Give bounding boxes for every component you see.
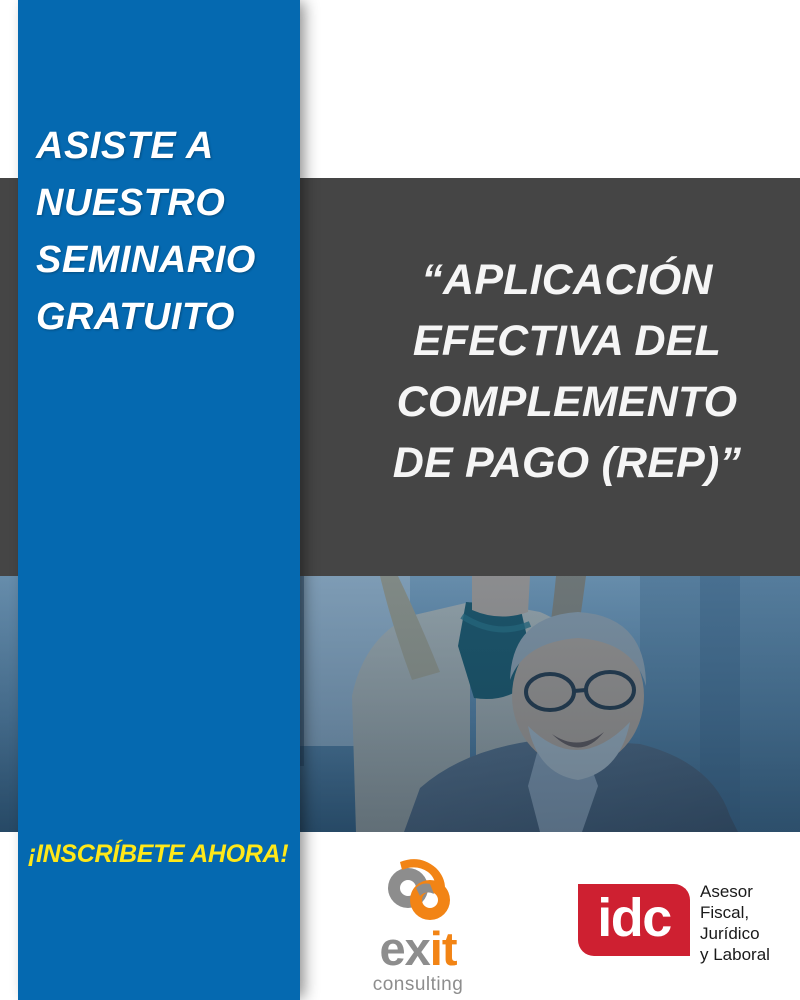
left-headline-line-1: ASISTE A	[36, 118, 288, 175]
interlocking-rings-icon	[364, 858, 472, 930]
seminar-title-line-2: EFECTIVA DEL	[352, 311, 782, 372]
exit-wordmark-it: it	[430, 922, 457, 975]
exit-consulting-logo: exit consulting	[348, 858, 488, 998]
idc-tagline: Asesor Fiscal, Jurídico y Laboral	[700, 881, 770, 965]
left-headline-line-3: SEMINARIO	[36, 232, 288, 289]
idc-logo: idc Asesor Fiscal, Jurídico y Laboral	[578, 884, 788, 970]
idc-tagline-line-2: Fiscal,	[700, 902, 770, 923]
seminar-title-line-4: DE PAGO (REP)”	[352, 433, 782, 494]
idc-tagline-line-3: Jurídico	[700, 923, 770, 944]
exit-wordmark: exit	[348, 924, 488, 974]
seminar-title-line-1: “APLICACIÓN	[352, 250, 782, 311]
left-headline-line-4: GRATUITO	[36, 289, 288, 346]
idc-tagline-line-1: Asesor	[700, 881, 770, 902]
left-headline: ASISTE A NUESTRO SEMINARIO GRATUITO	[36, 118, 288, 346]
seminar-title: “APLICACIÓN EFECTIVA DEL COMPLEMENTO DE …	[352, 250, 782, 494]
register-now-cta[interactable]: ¡INSCRÍBETE AHORA!	[28, 840, 288, 869]
exit-logo-subtitle: consulting	[348, 974, 488, 996]
idc-tagline-line-4: y Laboral	[700, 944, 770, 965]
seminar-title-line-3: COMPLEMENTO	[352, 372, 782, 433]
idc-wordmark: idc	[578, 884, 690, 956]
left-headline-line-2: NUESTRO	[36, 175, 288, 232]
seminar-flyer: ASISTE A NUESTRO SEMINARIO GRATUITO “APL…	[0, 0, 800, 1000]
exit-wordmark-ex: ex	[380, 922, 430, 975]
